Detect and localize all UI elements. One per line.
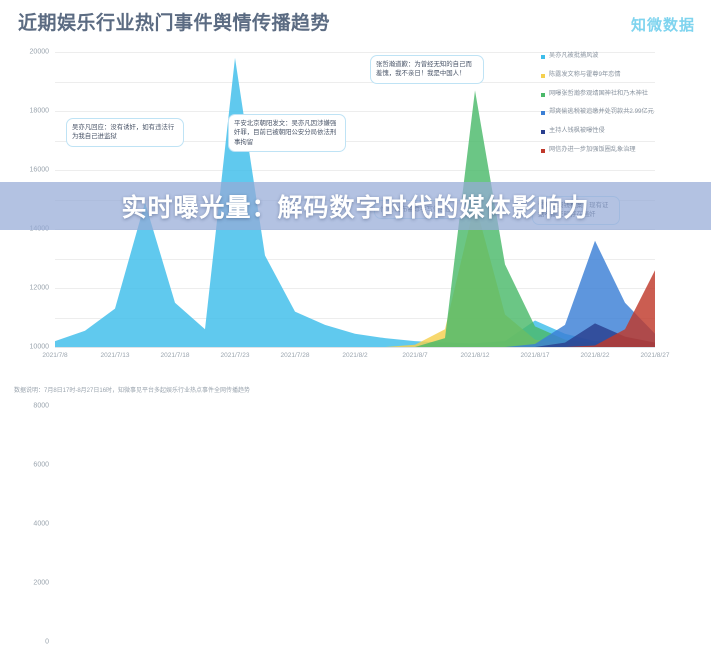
page-title: 近期娱乐行业热门事件舆情传播趋势 xyxy=(18,8,330,35)
legend-item-label: 郑爽偷逃税被追缴并处罚款共2.99亿元 xyxy=(549,108,654,116)
callout-wuyifan-response: 吴亦凡回应：没有诱奸，如有违法行为我自己进监狱 xyxy=(66,118,184,147)
callout-police-chaoyang: 平安北京朝阳发文：吴亦凡因涉嫌强奸罪，目前已被朝阳公安分局依法刑事拘留 xyxy=(228,114,346,152)
brand-logo: 知微数据 xyxy=(631,14,695,35)
x-axis-tick-label: 2021/7/13 xyxy=(101,352,130,359)
legend-swatch-icon xyxy=(541,111,545,115)
legend-item[interactable]: 陈露发文称与霍尊9年恋情 xyxy=(541,71,703,79)
x-axis-tick-label: 2021/8/7 xyxy=(402,352,427,359)
callout-zhangzhehan-apology: 张哲瀚道歉：为曾经无知的自己而羞愧，我不亲日！我是中国人！ xyxy=(370,55,484,84)
legend: 吴亦凡被批捕风波陈露发文称与霍尊9年恋情网曝张哲瀚参观靖国神社和乃木神社郑爽偷逃… xyxy=(541,52,703,165)
legend-item[interactable]: 网信办进一步加强饭圈乱象治理 xyxy=(541,146,703,154)
legend-swatch-icon xyxy=(541,55,545,59)
legend-item-label: 网信办进一步加强饭圈乱象治理 xyxy=(549,146,636,154)
x-axis-tick-label: 2021/7/8 xyxy=(42,352,67,359)
y-axis-tick-label: 20000 xyxy=(30,49,49,56)
chart-page: 近期娱乐行业热门事件舆情传播趋势 知微数据 020004000600080001… xyxy=(0,0,711,400)
x-axis-tick-label: 2021/8/12 xyxy=(461,352,490,359)
y-axis-tick-label: 0 xyxy=(45,639,49,646)
x-axis-tick-label: 2021/7/18 xyxy=(161,352,190,359)
legend-item-label: 主持人钱枫被曝性侵 xyxy=(549,127,605,135)
y-axis-tick-label: 12000 xyxy=(30,285,49,292)
y-axis-tick-label: 2000 xyxy=(33,580,49,587)
overlay-banner: 实时曝光量：解码数字时代的媒体影响力 xyxy=(0,182,711,230)
legend-item[interactable]: 主持人钱枫被曝性侵 xyxy=(541,127,703,135)
y-axis-tick-label: 10000 xyxy=(30,344,49,351)
y-axis-tick-label: 4000 xyxy=(33,521,49,528)
legend-item[interactable]: 吴亦凡被批捕风波 xyxy=(541,52,703,60)
x-axis-tick-label: 2021/7/28 xyxy=(281,352,310,359)
legend-item-label: 吴亦凡被批捕风波 xyxy=(549,52,599,60)
legend-item-label: 网曝张哲瀚参观靖国神社和乃木神社 xyxy=(549,90,648,98)
legend-item[interactable]: 网曝张哲瀚参观靖国神社和乃木神社 xyxy=(541,90,703,98)
y-axis-tick-label: 18000 xyxy=(30,108,49,115)
x-axis-tick-label: 2021/8/27 xyxy=(641,352,670,359)
legend-item-label: 陈露发文称与霍尊9年恋情 xyxy=(549,71,621,79)
x-axis-tick-label: 2021/8/17 xyxy=(521,352,550,359)
y-axis-tick-label: 8000 xyxy=(33,403,49,410)
legend-swatch-icon xyxy=(541,93,545,97)
x-axis-tick-label: 2021/8/22 xyxy=(581,352,610,359)
y-axis-tick-label: 6000 xyxy=(33,462,49,469)
x-axis-line xyxy=(55,347,655,348)
y-axis-tick-label: 16000 xyxy=(30,167,49,174)
footnote: 数据说明：7月8日17时-8月27日16时，知微事见平台多起娱乐行业热点事件全网… xyxy=(14,385,250,394)
x-axis-tick-label: 2021/8/2 xyxy=(342,352,367,359)
legend-swatch-icon xyxy=(541,74,545,78)
legend-swatch-icon xyxy=(541,130,545,134)
legend-item[interactable]: 郑爽偷逃税被追缴并处罚款共2.99亿元 xyxy=(541,108,703,116)
overlay-headline: 实时曝光量：解码数字时代的媒体影响力 xyxy=(121,188,589,224)
x-axis-tick-label: 2021/7/23 xyxy=(221,352,250,359)
legend-swatch-icon xyxy=(541,149,545,153)
